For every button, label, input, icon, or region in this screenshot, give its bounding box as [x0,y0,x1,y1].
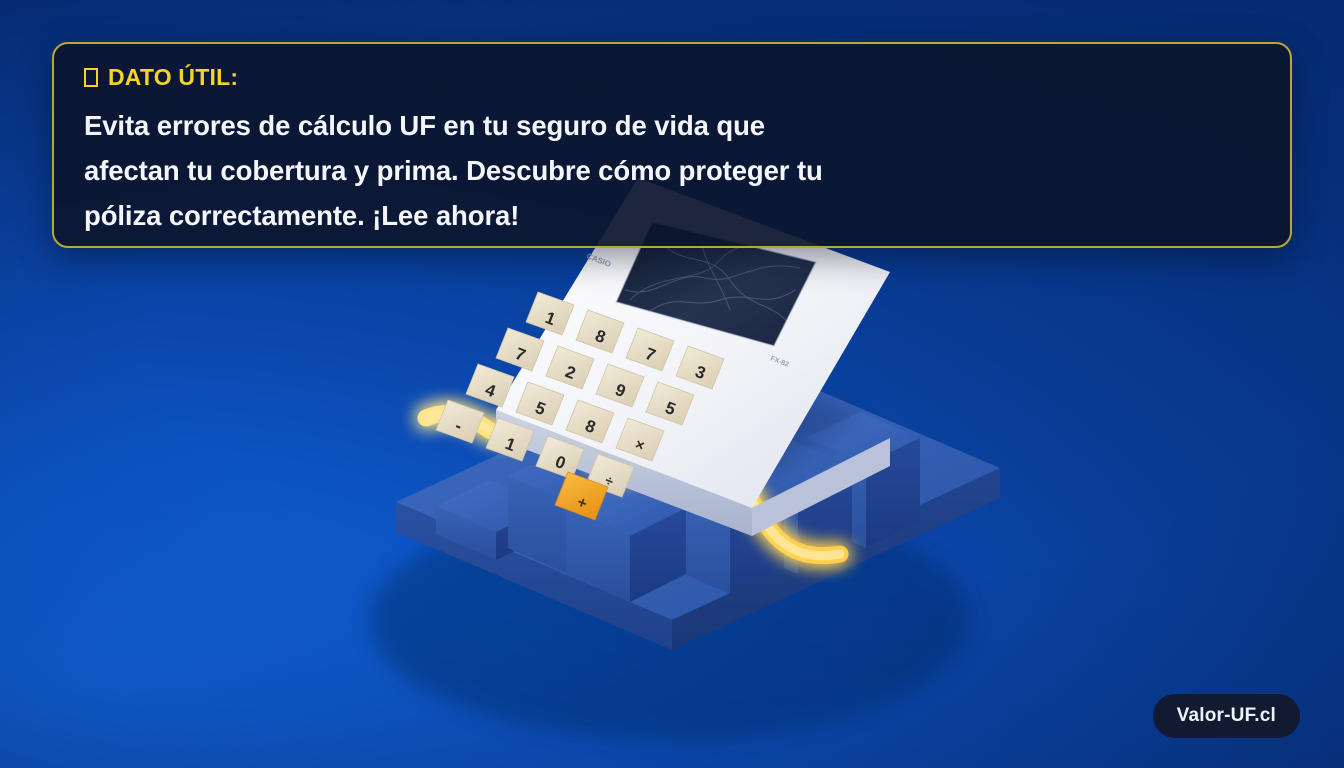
missing-glyph-box-icon [84,68,98,87]
callout-body-line-2: afectan tu cobertura y prima. Descubre c… [84,148,1064,193]
callout-heading: DATO ÚTIL: [84,66,1260,89]
callout-body-text: Evita errores de cálculo UF en tu seguro… [84,103,1064,238]
callout-heading-label: DATO ÚTIL: [108,66,238,89]
promo-banner: CASIO FX-82 1 8 7 [0,0,1344,768]
callout-body-line-3: póliza correctamente. ¡Lee ahora! [84,193,1064,238]
site-watermark-badge[interactable]: Valor-UF.cl [1153,694,1300,738]
callout-body-line-1: Evita errores de cálculo UF en tu seguro… [84,103,1064,148]
tip-callout-card: DATO ÚTIL: Evita errores de cálculo UF e… [52,42,1292,248]
